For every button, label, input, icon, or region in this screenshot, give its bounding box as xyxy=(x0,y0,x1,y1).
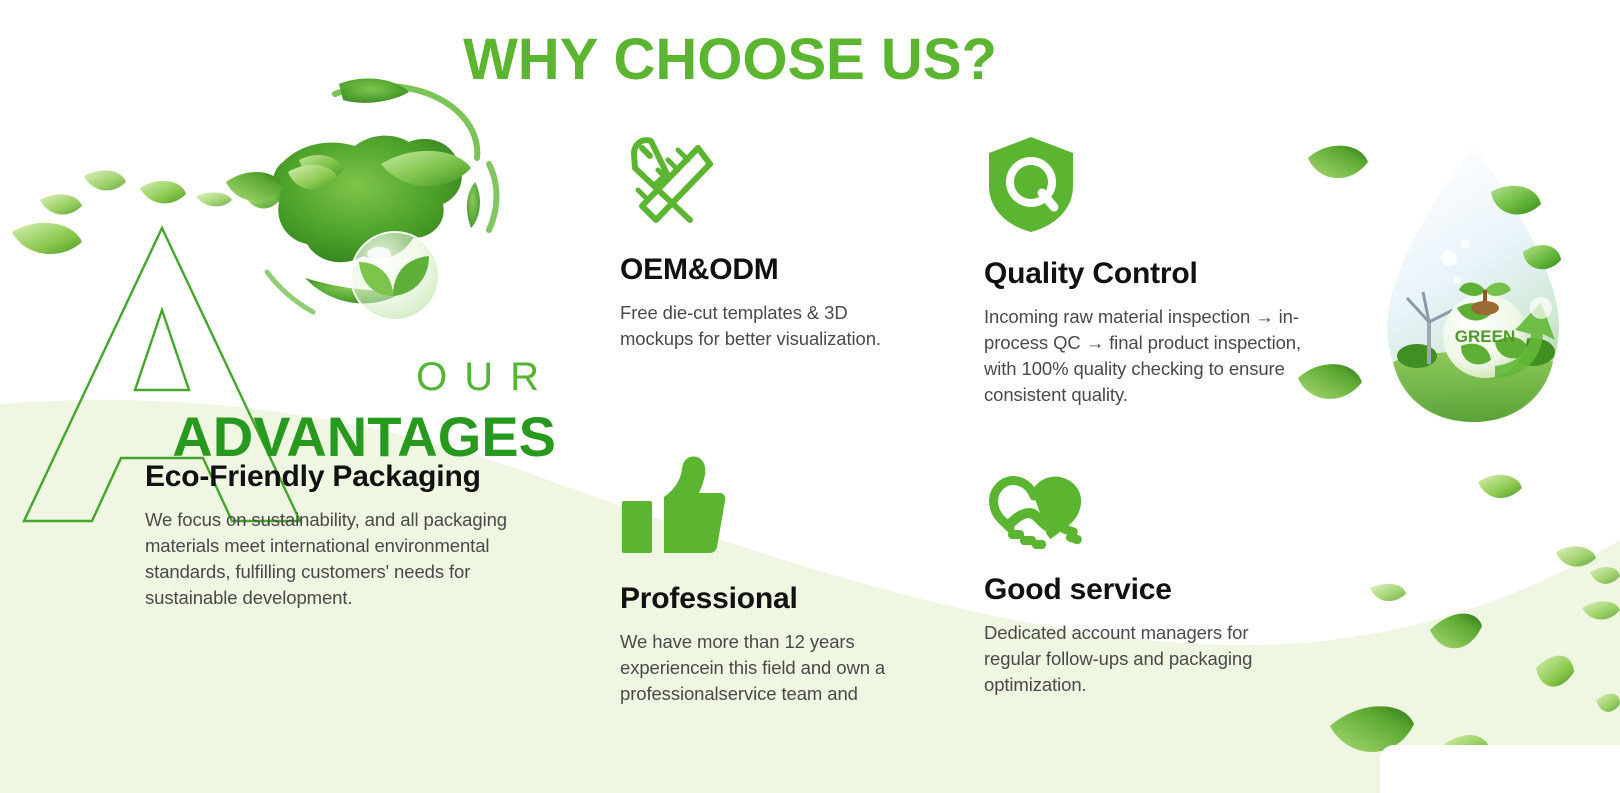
handshake-heart-icon xyxy=(984,470,1284,555)
feature-card-eco-friendly-packaging[interactable]: Eco-Friendly Packaging We focus on susta… xyxy=(145,460,545,612)
feature-body: Incoming raw material inspection → in-pr… xyxy=(984,304,1314,409)
feature-title: Professional xyxy=(620,582,910,617)
feature-body: Dedicated account managers for regular f… xyxy=(984,620,1284,699)
our-label: OUR xyxy=(0,355,556,400)
feature-body: We focus on sustainability, and all pack… xyxy=(145,507,545,612)
feature-title: Quality Control xyxy=(984,257,1314,292)
water-drop-green-globe-illustration: GREEN xyxy=(1345,140,1600,460)
feature-card-good-service[interactable]: Good service Dedicated account managers … xyxy=(984,470,1284,698)
thumbs-up-icon xyxy=(620,455,910,560)
feature-card-professional[interactable]: Professional We have more than 12 years … xyxy=(620,455,910,707)
poster-canvas: GREEN xyxy=(0,0,1620,793)
svg-text:GREEN: GREEN xyxy=(1455,327,1515,346)
feature-body: We have more than 12 years experiencein … xyxy=(620,629,910,708)
feature-body: Free die-cut templates & 3D mockups for … xyxy=(620,300,920,353)
page-title: WHY CHOOSE US? xyxy=(0,26,1460,93)
green-world-map-illustration xyxy=(243,72,511,322)
feature-title: OEM&ODM xyxy=(620,253,920,288)
feature-card-oem[interactable]: OEM&ODM Free die-cut templates & 3D mock… xyxy=(620,134,920,352)
pencil-ruler-icon xyxy=(620,134,920,231)
feature-card-quality-control[interactable]: Quality Control Incoming raw material in… xyxy=(984,134,1314,409)
feature-title: Eco-Friendly Packaging xyxy=(145,460,545,495)
feature-title: Good service xyxy=(984,573,1284,608)
shield-q-icon xyxy=(984,134,1314,239)
corner-card xyxy=(1380,745,1620,793)
